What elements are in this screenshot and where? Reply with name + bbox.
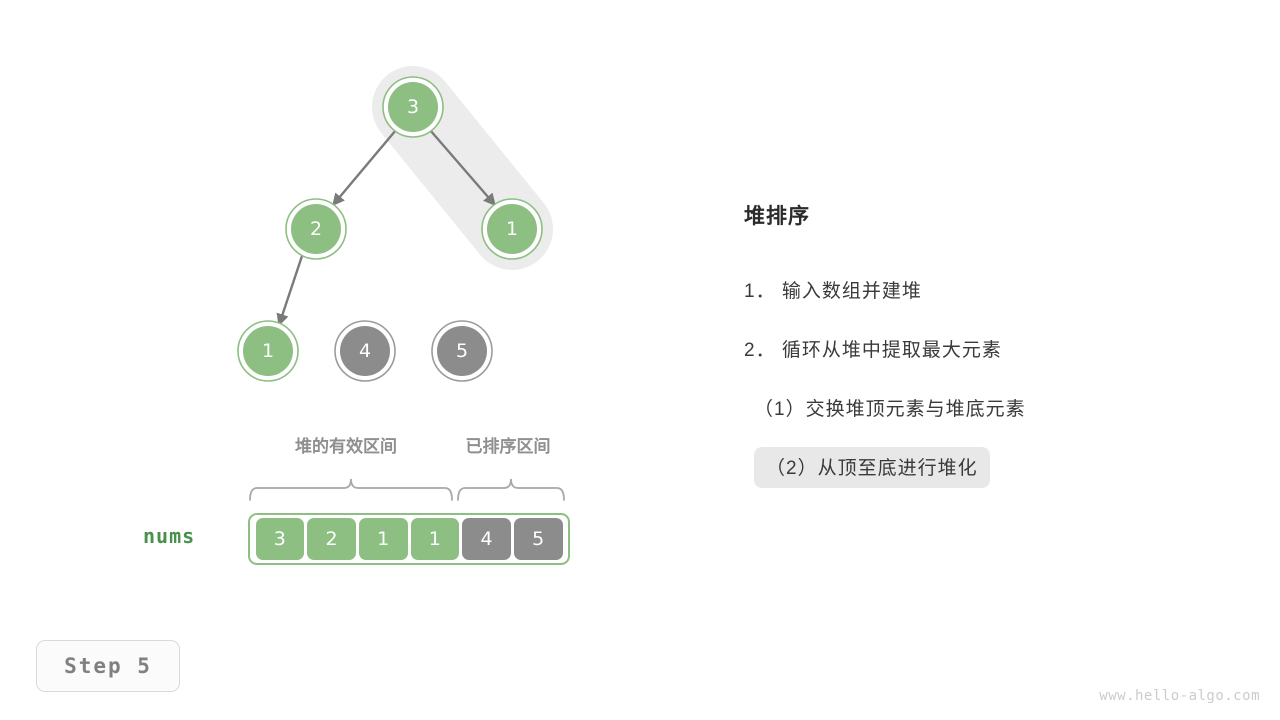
tree-node-leaf-four[interactable]: 4 bbox=[335, 321, 395, 381]
array-cell[interactable]: 5 bbox=[514, 518, 563, 560]
tree-node-left[interactable]: 2 bbox=[286, 199, 346, 259]
range-label-heap: 堆的有效区间 bbox=[248, 432, 444, 457]
range-labels: 堆的有效区间 已排序区间 bbox=[248, 432, 572, 456]
array-variable-label: nums bbox=[143, 524, 195, 548]
step-row: 2． 循环从堆中提取最大元素 bbox=[744, 329, 1214, 388]
array-cell-value: 4 bbox=[480, 528, 492, 550]
range-label-sorted: 已排序区间 bbox=[444, 432, 572, 457]
array-cell[interactable]: 1 bbox=[411, 518, 460, 560]
step-row: （1）交换堆顶元素与堆底元素 bbox=[744, 388, 1214, 447]
tree-node-label: 3 bbox=[407, 96, 419, 118]
algorithm-steps-panel: 堆排序 1． 输入数组并建堆 2． 循环从堆中提取最大元素 （1）交换堆顶元素与… bbox=[744, 200, 1214, 506]
tree-node-root[interactable]: 3 bbox=[383, 77, 443, 137]
brace-heap bbox=[250, 479, 452, 500]
array-cell[interactable]: 3 bbox=[256, 518, 305, 560]
array-cell[interactable]: 2 bbox=[307, 518, 356, 560]
tree-node-label: 5 bbox=[456, 340, 468, 362]
step-item-2-2[interactable]: （2）从顶至底进行堆化 bbox=[754, 447, 990, 488]
tree-node-label: 4 bbox=[359, 340, 371, 362]
array-cell-value: 2 bbox=[325, 528, 337, 550]
step-row: （2）从顶至底进行堆化 bbox=[744, 447, 1214, 506]
tree-node-label: 1 bbox=[262, 340, 274, 362]
array-cell-value: 1 bbox=[429, 528, 441, 550]
array-cell[interactable]: 4 bbox=[462, 518, 511, 560]
step-item-2[interactable]: 2． 循环从堆中提取最大元素 bbox=[744, 329, 1014, 370]
brace-sorted bbox=[458, 479, 564, 500]
binary-tree-diagram: 3 2 1 1 4 5 bbox=[0, 0, 640, 410]
tree-node-label: 1 bbox=[506, 218, 518, 240]
step-item-1[interactable]: 1． 输入数组并建堆 bbox=[744, 270, 934, 311]
status-badge: Step 5 bbox=[36, 640, 180, 692]
array-cell-value: 3 bbox=[274, 528, 286, 550]
array-cell-value: 1 bbox=[377, 528, 389, 550]
edge-left-leftleft bbox=[279, 253, 303, 325]
step-item-2-1[interactable]: （1）交换堆顶元素与堆底元素 bbox=[754, 388, 1038, 429]
array-container: 3 2 1 1 4 5 bbox=[248, 513, 570, 565]
array-cell[interactable]: 1 bbox=[359, 518, 408, 560]
tree-node-leaf-five[interactable]: 5 bbox=[432, 321, 492, 381]
tree-node-left-left[interactable]: 1 bbox=[238, 321, 298, 381]
step-row: 1． 输入数组并建堆 bbox=[744, 270, 1214, 329]
tree-node-label: 2 bbox=[310, 218, 322, 240]
array-cell-value: 5 bbox=[532, 528, 544, 550]
range-braces bbox=[248, 466, 578, 504]
footer-url: www.hello-algo.com bbox=[1099, 688, 1260, 704]
edge-root-left bbox=[333, 130, 396, 205]
tree-node-right[interactable]: 1 bbox=[482, 199, 542, 259]
page-title: 堆排序 bbox=[744, 200, 1214, 230]
